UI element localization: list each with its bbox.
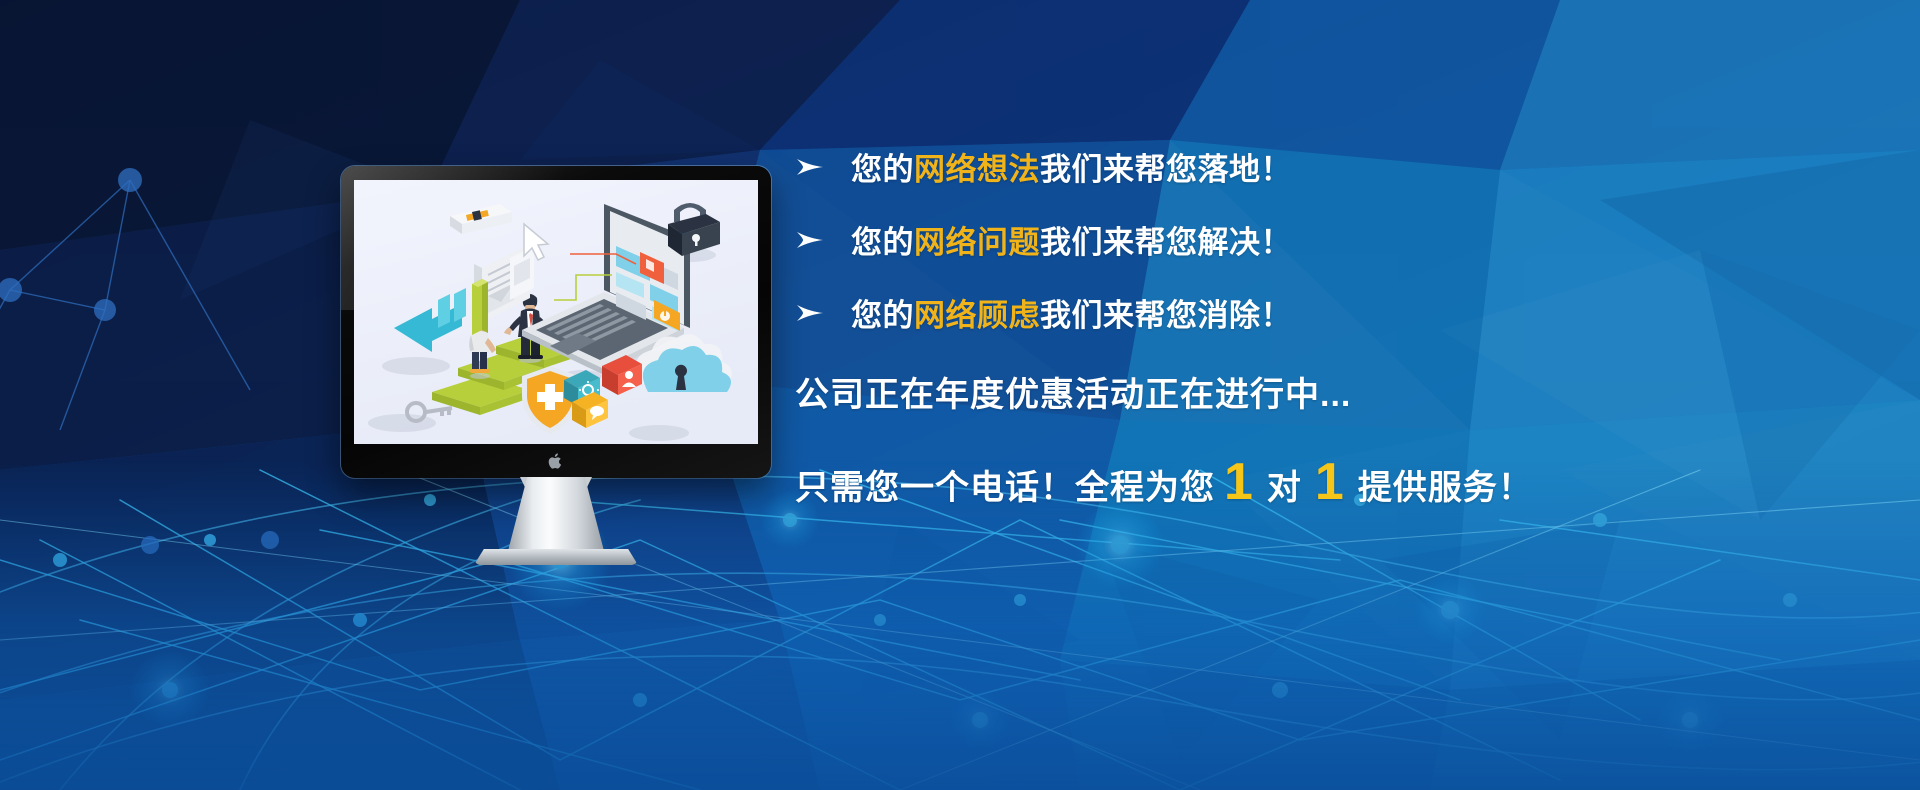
cta-between: 对	[1263, 460, 1306, 509]
monitor-stand-base	[474, 549, 638, 565]
apple-logo-icon	[549, 453, 564, 470]
bullet-item-2: 您的网络问题我们来帮您解决！	[795, 203, 1655, 276]
arrow-bullet-icon	[795, 230, 851, 250]
marketing-copy: 您的网络想法我们来帮您落地！ 您的网络问题我们来帮您解决！ 您的网络顾虑我们来帮…	[795, 130, 1655, 509]
bullet-prefix-1: 您的	[851, 152, 914, 187]
cta-lead: 只需您一个电话！全程为您	[795, 460, 1215, 509]
cta-line: 只需您一个电话！全程为您 1 对 1 提供服务！	[795, 456, 1655, 509]
bullet-highlight-2: 网络问题	[914, 225, 1040, 260]
bullet-text-1: 您的网络想法我们来帮您落地！	[851, 144, 1292, 189]
arrow-bullet-icon	[795, 303, 851, 323]
promo-banner: 您的网络想法我们来帮您落地！ 您的网络问题我们来帮您解决！ 您的网络顾虑我们来帮…	[0, 0, 1920, 790]
bullet-suffix-1: 我们来帮您落地！	[1040, 152, 1292, 187]
bullet-suffix-3: 我们来帮您消除！	[1040, 298, 1292, 333]
bullet-suffix-2: 我们来帮您解决！	[1040, 225, 1292, 260]
imac-monitor-illustration	[341, 166, 771, 478]
bullet-highlight-1: 网络想法	[914, 152, 1040, 187]
cta-tail: 提供服务！	[1354, 460, 1537, 509]
cta-number-second: 1	[1306, 456, 1354, 508]
arrow-bullet-icon	[795, 157, 851, 177]
cta-number-first: 1	[1215, 456, 1263, 508]
promo-line: 公司正在年度优惠活动正在进行中...	[795, 367, 1655, 416]
bullet-item-1: 您的网络想法我们来帮您落地！	[795, 130, 1655, 203]
bullet-text-2: 您的网络问题我们来帮您解决！	[851, 217, 1292, 262]
bullet-text-3: 您的网络顾虑我们来帮您消除！	[851, 290, 1292, 335]
bullet-prefix-3: 您的	[851, 298, 914, 333]
bullet-highlight-3: 网络顾虑	[914, 298, 1040, 333]
monitor-screen	[354, 180, 758, 444]
bullet-prefix-2: 您的	[851, 225, 914, 260]
bullet-item-3: 您的网络顾虑我们来帮您消除！	[795, 276, 1655, 349]
